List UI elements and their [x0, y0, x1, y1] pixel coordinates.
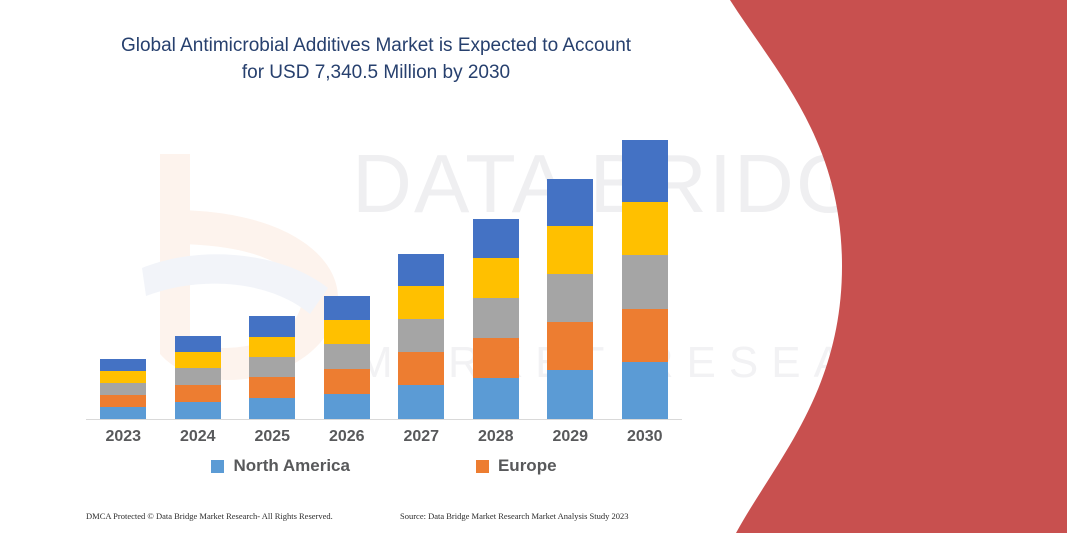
- bar-segment: [398, 352, 444, 385]
- stacked-bar: [249, 316, 295, 419]
- bar-segment: [100, 395, 146, 407]
- bar-segment: [175, 402, 221, 419]
- x-axis-label: 2029: [533, 428, 608, 446]
- bar-segment: [622, 202, 668, 255]
- legend-swatch-icon: [476, 460, 489, 473]
- bar-slot: [459, 120, 534, 419]
- footer-copyright: DMCA Protected © Data Bridge Market Rese…: [86, 511, 333, 521]
- bar-slot: [310, 120, 385, 419]
- bar-segment: [473, 258, 519, 298]
- stacked-bar: [473, 219, 519, 419]
- stacked-bar: [175, 336, 221, 419]
- red-panel-shape: [690, 0, 1067, 533]
- bar-segment: [249, 398, 295, 419]
- stacked-bar-chart: [86, 120, 682, 420]
- x-axis-label: 2027: [384, 428, 459, 446]
- stacked-bar: [547, 179, 593, 419]
- bar-slot: [161, 120, 236, 419]
- bar-segment: [249, 316, 295, 337]
- legend-item-europe[interactable]: Europe: [476, 456, 557, 476]
- stacked-bar: [622, 140, 668, 419]
- bar-segment: [175, 385, 221, 402]
- bar-segment: [547, 370, 593, 419]
- bar-segment: [100, 371, 146, 383]
- bar-segment: [473, 298, 519, 338]
- bar-segment: [100, 359, 146, 371]
- bar-segment: [547, 322, 593, 370]
- bar-segment: [622, 140, 668, 202]
- bar-segment: [175, 352, 221, 368]
- bar-segment: [622, 309, 668, 362]
- footer: DMCA Protected © Data Bridge Market Rese…: [0, 508, 700, 528]
- bar-segment: [324, 296, 370, 320]
- chart-bars-container: [86, 120, 682, 419]
- bar-segment: [398, 254, 444, 286]
- chart-x-axis-labels: 20232024202520262027202820292030: [86, 428, 682, 446]
- chart-baseline-axis: [86, 419, 682, 420]
- bar-segment: [175, 336, 221, 352]
- stacked-bar: [398, 254, 444, 419]
- bar-segment: [398, 319, 444, 352]
- bar-segment: [398, 385, 444, 419]
- bar-slot: [608, 120, 683, 419]
- bar-segment: [249, 357, 295, 377]
- x-axis-label: 2023: [86, 428, 161, 446]
- bar-segment: [175, 368, 221, 385]
- legend-label: Europe: [498, 456, 557, 476]
- page-title: Global Antimicrobial Additives Market is…: [86, 32, 666, 86]
- bar-segment: [249, 377, 295, 398]
- bar-segment: [324, 369, 370, 394]
- bar-segment: [324, 344, 370, 369]
- x-axis-label: 2028: [459, 428, 534, 446]
- bar-segment: [547, 274, 593, 322]
- bar-segment: [622, 362, 668, 419]
- bar-segment: [100, 383, 146, 395]
- chart-legend: North AmericaEurope: [86, 456, 682, 476]
- bar-segment: [324, 320, 370, 344]
- page-title-line1: Global Antimicrobial Additives Market is…: [86, 32, 666, 59]
- legend-label: North America: [233, 456, 350, 476]
- bar-segment: [547, 226, 593, 274]
- bar-slot: [86, 120, 161, 419]
- right-red-panel: Global Antimicrobial Additives Market, B…: [690, 0, 1067, 533]
- bar-segment: [249, 337, 295, 357]
- bar-segment: [622, 255, 668, 309]
- legend-swatch-icon: [211, 460, 224, 473]
- bar-segment: [100, 407, 146, 419]
- bar-slot: [384, 120, 459, 419]
- bar-segment: [473, 378, 519, 419]
- bar-segment: [473, 338, 519, 378]
- stacked-bar: [100, 359, 146, 419]
- footer-source: Source: Data Bridge Market Research Mark…: [400, 511, 629, 521]
- x-axis-label: 2026: [310, 428, 385, 446]
- bar-segment: [398, 286, 444, 319]
- x-axis-label: 2025: [235, 428, 310, 446]
- legend-item-north-america[interactable]: North America: [211, 456, 350, 476]
- bar-segment: [473, 219, 519, 258]
- bar-segment: [547, 179, 593, 226]
- x-axis-label: 2024: [161, 428, 236, 446]
- infographic-canvas: DATA BRIDGE MARKET RESEARCH Global Antim…: [0, 0, 1067, 533]
- bar-segment: [324, 394, 370, 419]
- stacked-bar: [324, 296, 370, 419]
- page-title-line2: for USD 7,340.5 Million by 2030: [86, 59, 666, 86]
- bar-slot: [235, 120, 310, 419]
- x-axis-label: 2030: [608, 428, 683, 446]
- bar-slot: [533, 120, 608, 419]
